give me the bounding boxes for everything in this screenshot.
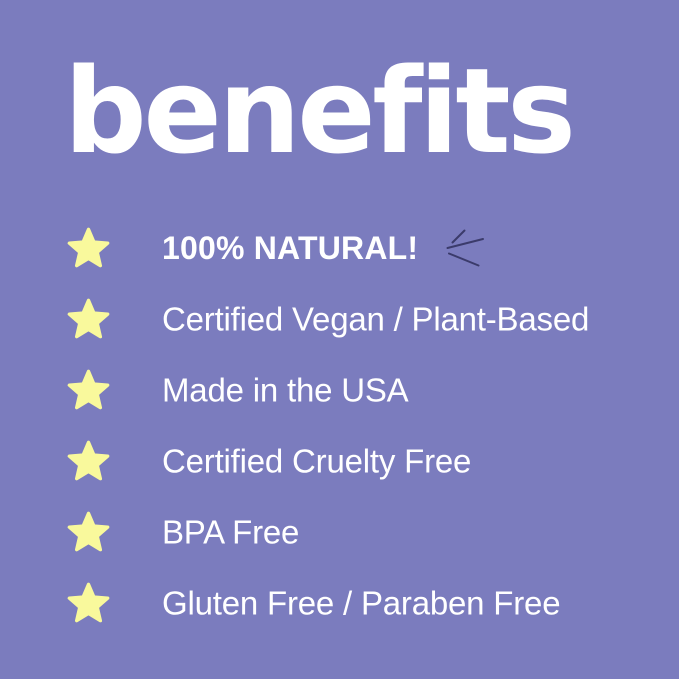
benefit-item-label: Certified Cruelty Free (162, 444, 471, 479)
benefit-item-label: Gluten Free / Paraben Free (162, 586, 560, 621)
star-icon (65, 439, 112, 484)
benefits-list: 100% NATURAL!Certified Vegan / Plant-Bas… (0, 213, 679, 639)
star-icon (65, 226, 112, 271)
star-icon (65, 581, 112, 626)
benefit-item-label: Certified Vegan / Plant-Based (162, 302, 589, 337)
benefit-item: Certified Cruelty Free (0, 426, 679, 497)
benefit-item: Certified Vegan / Plant-Based (0, 284, 679, 355)
benefit-item: Gluten Free / Paraben Free (0, 568, 679, 639)
benefit-item-label: BPA Free (162, 515, 299, 550)
benefits-poster: benefits 100% NATURAL!Certified Vegan / … (0, 0, 679, 679)
benefit-item-label: Made in the USA (162, 373, 408, 408)
benefit-item-label: 100% NATURAL! (162, 232, 418, 266)
sparkle-lines-icon (443, 226, 491, 272)
star-icon (65, 368, 112, 413)
benefit-item: BPA Free (0, 497, 679, 568)
page-title: benefits (64, 52, 573, 170)
star-icon (65, 510, 112, 555)
benefit-item: Made in the USA (0, 355, 679, 426)
benefit-item: 100% NATURAL! (0, 213, 679, 284)
star-icon (65, 297, 112, 342)
